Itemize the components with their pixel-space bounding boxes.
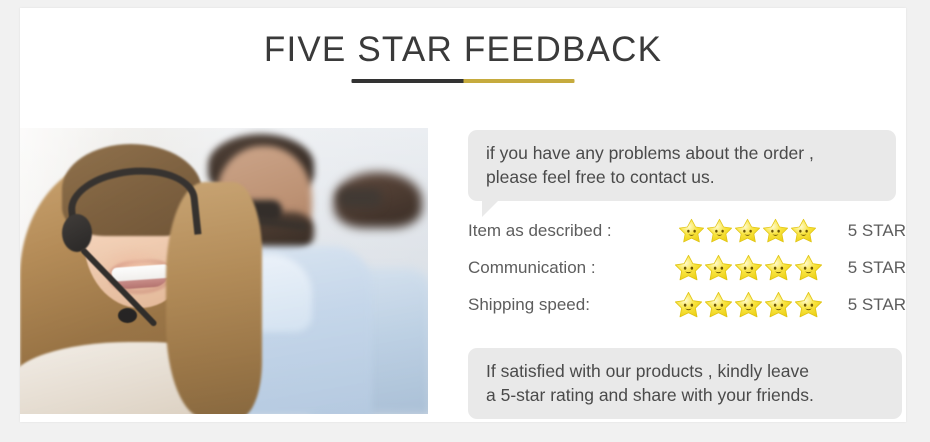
divider-gold-segment xyxy=(463,79,575,83)
star-icon xyxy=(707,218,732,243)
contact-bubble-line-2: please feel free to contact us. xyxy=(486,165,882,189)
star-icon xyxy=(765,254,792,281)
star-icon xyxy=(705,291,732,318)
photo-overlay xyxy=(20,128,428,414)
star-rating-item-as-described xyxy=(679,218,820,243)
star-icon xyxy=(679,218,704,243)
ratings-list: Item as described : xyxy=(468,212,906,323)
rating-label: Communication : xyxy=(468,258,675,278)
contact-bubble-line-1: if you have any problems about the order… xyxy=(486,141,882,165)
rating-value: 5 STAR xyxy=(848,295,906,315)
star-rating-communication xyxy=(675,254,820,281)
star-icon xyxy=(791,218,816,243)
photo-background xyxy=(20,128,428,414)
rating-value: 5 STAR xyxy=(848,258,906,278)
star-icon xyxy=(795,291,822,318)
leave-review-note: If satisfied with our products , kindly … xyxy=(468,348,902,419)
leave-review-line-2: a 5-star rating and share with your frie… xyxy=(486,383,888,407)
star-icon xyxy=(735,254,762,281)
divider-dark-segment xyxy=(352,79,464,83)
customer-service-photo xyxy=(20,128,428,414)
feedback-card: FIVE STAR FEEDBACK xyxy=(20,8,906,422)
header: FIVE STAR FEEDBACK xyxy=(20,8,906,113)
page-title: FIVE STAR FEEDBACK xyxy=(20,30,906,70)
feedback-content: if you have any problems about the order… xyxy=(448,120,906,422)
rating-label: Item as described : xyxy=(468,221,679,241)
rating-value: 5 STAR xyxy=(848,221,906,241)
rating-row: Communication : xyxy=(468,249,906,286)
rating-row: Shipping speed: xyxy=(468,286,906,323)
contact-speech-bubble: if you have any problems about the order… xyxy=(468,130,896,201)
star-icon xyxy=(675,254,702,281)
leave-review-line-1: If satisfied with our products , kindly … xyxy=(486,359,888,383)
star-icon xyxy=(765,291,792,318)
star-icon xyxy=(795,254,822,281)
star-icon xyxy=(735,218,760,243)
title-divider xyxy=(352,79,575,83)
star-icon xyxy=(735,291,762,318)
rating-row: Item as described : xyxy=(468,212,906,249)
star-icon xyxy=(705,254,732,281)
star-rating-shipping-speed xyxy=(675,291,820,318)
rating-label: Shipping speed: xyxy=(468,295,675,315)
star-icon xyxy=(763,218,788,243)
star-icon xyxy=(675,291,702,318)
page-background: FIVE STAR FEEDBACK xyxy=(0,0,930,442)
